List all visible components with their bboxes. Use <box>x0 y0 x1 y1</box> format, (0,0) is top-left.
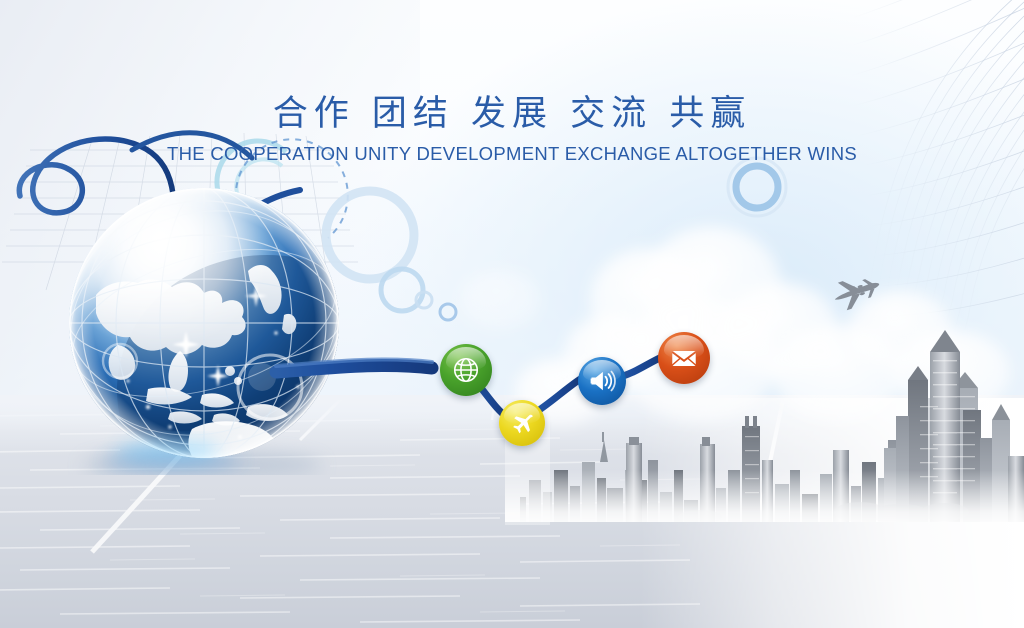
earth-globe <box>52 175 372 475</box>
node-speaker[interactable] <box>578 357 626 405</box>
speaker-icon <box>588 367 616 395</box>
flying-airplane <box>828 272 888 314</box>
envelope-icon <box>669 343 699 373</box>
page-title: 合作 团结 发展 交流 共赢 <box>0 96 1024 133</box>
node-globe[interactable] <box>440 344 492 396</box>
page-subtitle: THE COOPERATION UNITY DEVELOPMENT EXCHAN… <box>0 143 1024 165</box>
node-airplane[interactable] <box>499 400 545 446</box>
node-envelope[interactable] <box>658 332 710 384</box>
banner-stage: 合作 团结 发展 交流 共赢 THE COOPERATION UNITY DEV… <box>0 0 1024 628</box>
globe-icon <box>451 355 481 385</box>
airplane-icon <box>509 410 535 436</box>
ground-right-fade <box>640 398 1024 628</box>
